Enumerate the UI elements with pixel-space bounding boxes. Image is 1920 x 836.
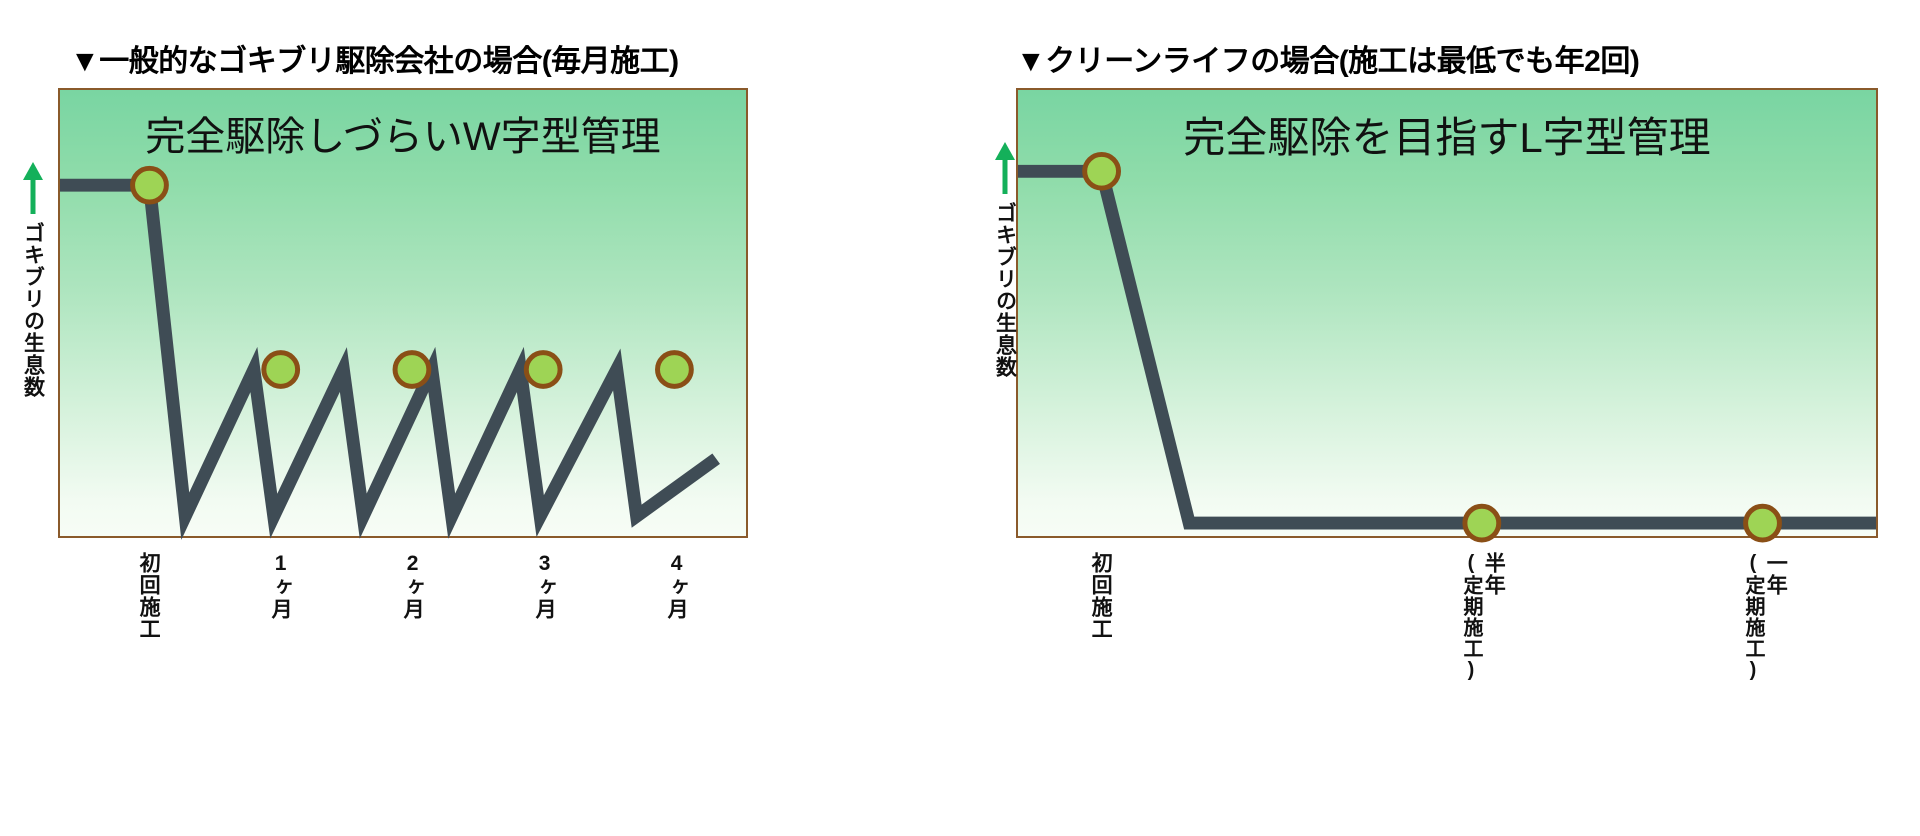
x-tick-general-0: 初回施工 <box>137 552 159 640</box>
x-tick-cleanlife-2: 一年 (定期施工) <box>1742 552 1786 682</box>
data-marker <box>658 353 692 387</box>
panel-cleanlife: ▼クリーンライフの場合(施工は最低でも年2回) 完全駆除を目指すL字型管理 ゴキ… <box>980 0 1920 836</box>
y-axis-general: ゴキブリの生息数 <box>14 160 52 398</box>
data-marker <box>395 353 429 387</box>
panel-title-cleanlife: ▼クリーンライフの場合(施工は最低でも年2回) <box>1016 36 1639 80</box>
data-marker <box>1465 506 1499 540</box>
y-axis-cleanlife: ゴキブリの生息数 <box>986 140 1024 378</box>
plot-area-cleanlife: 完全駆除を目指すL字型管理 <box>1016 88 1878 538</box>
x-tick-label: 初回施工 <box>1089 552 1111 640</box>
panel-title-general: ▼一般的なゴキブリ駆除会社の場合(毎月施工) <box>70 36 679 80</box>
x-tick-label: 2ヶ月 <box>401 552 423 620</box>
plot-area-general: 完全駆除しづらいW字型管理 <box>58 88 748 538</box>
figure-root: ▼一般的なゴキブリ駆除会社の場合(毎月施工) 完全駆除しづらいW字型管理 ゴキブ… <box>0 0 1920 836</box>
data-line-general <box>60 185 716 516</box>
x-tick-general-3: 3ヶ月 <box>533 552 555 620</box>
data-marker <box>264 353 298 387</box>
data-marker <box>526 353 560 387</box>
up-arrow-icon <box>21 160 45 216</box>
x-tick-sublabel: (定期施工) <box>1742 552 1763 682</box>
data-marker <box>1746 506 1780 540</box>
x-tick-label: 初回施工 <box>137 552 159 640</box>
up-arrow-icon <box>993 140 1017 196</box>
x-tick-general-4: 4ヶ月 <box>665 552 687 620</box>
panel-general: ▼一般的なゴキブリ駆除会社の場合(毎月施工) 完全駆除しづらいW字型管理 ゴキブ… <box>0 0 980 836</box>
x-tick-label: 一年 <box>1764 552 1786 596</box>
data-line-cleanlife <box>1018 171 1876 523</box>
x-tick-label: 3ヶ月 <box>533 552 555 620</box>
inner-heading-cleanlife: 完全駆除を目指すL字型管理 <box>1018 104 1876 165</box>
x-tick-label: 4ヶ月 <box>665 552 687 620</box>
x-tick-label: 半年 <box>1482 552 1504 596</box>
data-marker <box>133 168 167 202</box>
y-axis-label-cleanlife: ゴキブリの生息数 <box>995 202 1016 378</box>
x-tick-label: 1ヶ月 <box>269 552 291 620</box>
x-tick-general-2: 2ヶ月 <box>401 552 423 620</box>
x-tick-general-1: 1ヶ月 <box>269 552 291 620</box>
inner-heading-general: 完全駆除しづらいW字型管理 <box>60 104 746 162</box>
x-tick-cleanlife-1: 半年 (定期施工) <box>1460 552 1504 682</box>
x-tick-cleanlife-0: 初回施工 <box>1089 552 1111 640</box>
y-axis-label-general: ゴキブリの生息数 <box>23 222 44 398</box>
x-tick-sublabel: (定期施工) <box>1460 552 1481 682</box>
